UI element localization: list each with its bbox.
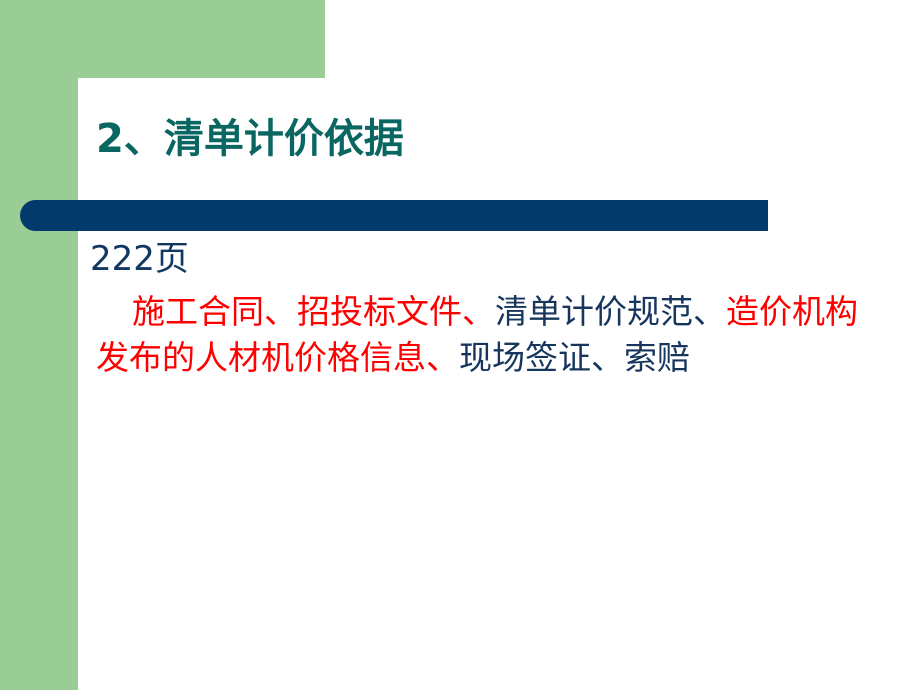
- green-top-block: [0, 0, 325, 78]
- green-left-strip: [0, 0, 78, 690]
- page-reference-unit: 页: [155, 239, 189, 279]
- title-divider-bar: [20, 200, 768, 231]
- slide-title: 2、清单计价依据: [96, 116, 796, 162]
- body-segment-blue-1: 清单计价规范、: [495, 292, 726, 331]
- page-reference: 222页: [90, 241, 189, 278]
- body-paragraph: 施工合同、招投标文件、清单计价规范、造价机构发布的人材机价格信息、现场签证、索赔: [96, 289, 886, 381]
- body-segment-red-2: 造价: [726, 292, 792, 331]
- page-reference-number: 222: [90, 239, 155, 279]
- white-content-panel: [78, 78, 920, 690]
- body-segment-red-1: 施工合同、招投标文件、: [132, 292, 495, 331]
- slide-canvas: 2、清单计价依据 222页 施工合同、招投标文件、清单计价规范、造价机构发布的人…: [0, 0, 920, 690]
- body-segment-blue-2: 现场签证、索赔: [459, 338, 690, 377]
